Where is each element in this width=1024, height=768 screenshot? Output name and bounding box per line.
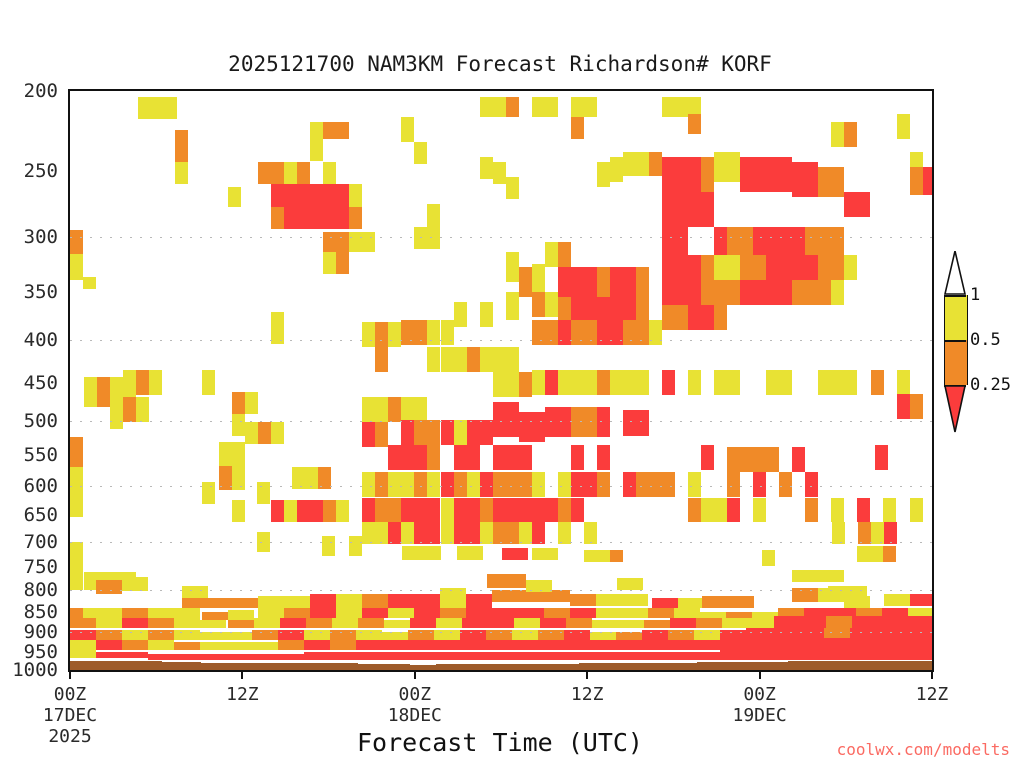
heatmap-cell [636,472,662,497]
chart-root: 2025121700 NAM3KM Forecast Richardson# K… [0,0,1024,768]
heatmap-cell [701,445,714,470]
heatmap-cell [702,596,728,608]
heatmap-cell [362,397,375,422]
heatmap-cell [258,596,284,608]
heatmap-cell [297,162,310,184]
heatmap-cell [408,640,434,650]
heatmap-cell [668,640,694,650]
heatmap-cell [857,498,870,522]
y-tick-mark [68,487,70,489]
heatmap-cell [662,472,675,497]
heatmap-cell [434,652,460,660]
heatmap-cell [97,377,110,407]
heatmap-cell [304,640,330,650]
terrain-segment [697,662,711,670]
heatmap-cell [323,122,349,139]
heatmap-cell [454,522,480,544]
heatmap-cell [384,620,410,628]
heatmap-cell [362,498,375,522]
heatmap-cell [623,472,636,497]
heatmap-cell [336,500,349,522]
heatmap-cell [110,397,123,422]
heatmap-cell [362,522,388,544]
heatmap-cell [149,370,162,395]
heatmap-cell [642,652,668,660]
heatmap-cell [644,620,670,628]
heatmap-cell [388,522,401,544]
y-tick-mark [68,384,70,386]
heatmap-cell [401,117,414,142]
heatmap-cell [70,572,83,590]
heatmap-cell [832,522,845,544]
heatmap-cell [674,608,700,618]
heatmap-cell [336,608,362,618]
y-tick-mark [68,591,70,593]
terrain-segment [762,662,776,670]
heatmap-cell [748,618,774,628]
heatmap-cell [610,370,636,395]
heatmap-cell [902,650,934,660]
heatmap-cell [349,207,362,229]
heatmap-cell [284,608,310,618]
heatmap-cell [480,420,493,445]
heatmap-cell [597,267,610,297]
heatmap-cell [714,255,740,280]
terrain-segment [214,663,228,670]
heatmap-cell [800,616,826,628]
heatmap-plot-area [68,89,934,672]
heatmap-cell [232,500,245,522]
heatmap-cell [506,292,519,320]
heatmap-cell [388,608,414,618]
heatmap-cell [544,608,570,618]
heatmap-cell [558,320,571,345]
heatmap-cell [753,227,779,255]
heatmap-cell [740,255,766,280]
heatmap-cell [623,320,649,345]
heatmap-cell [388,445,401,470]
heatmap-cell [427,227,440,249]
heatmap-cell [356,652,382,660]
heatmap-cell [388,472,414,497]
heatmap-cell [70,650,96,658]
heatmap-cell [662,157,701,192]
heatmap-cell [460,640,486,650]
heatmap-cell [441,472,454,497]
heatmap-cell [844,192,870,217]
heatmap-cell [545,292,558,317]
heatmap-cell [762,550,775,566]
heatmap-cell [356,640,382,650]
heatmap-cell [571,445,584,470]
heatmap-cell [722,618,748,628]
terrain-segment [188,662,202,670]
heatmap-cell [414,142,427,164]
y-tick-mark [68,516,70,518]
heatmap-cell [884,522,897,544]
heatmap-cell [668,652,694,660]
heatmap-cell [596,594,622,606]
y-tick-label: 600 [24,475,58,497]
heatmap-cell [792,447,805,472]
heatmap-cell [70,467,83,492]
heatmap-cell [714,370,740,395]
heatmap-cell [883,546,896,562]
heatmap-cell [336,232,349,252]
heatmap-cell [616,652,642,660]
heatmap-cell [254,618,280,628]
heatmap-cell [636,267,649,297]
heatmap-cell [792,570,844,582]
heatmap-cell [414,472,427,497]
x-tick-time: 00Z [388,684,442,705]
heatmap-cell [454,472,467,497]
heatmap-cell [136,397,149,422]
heatmap-cell [844,255,857,280]
x-tick-mark [759,672,761,679]
heatmap-cell [597,320,623,345]
y-tick-mark [68,568,70,570]
heatmap-cell [858,522,871,544]
heatmap-cell [519,498,532,522]
colorbar-top-arrow [944,251,966,295]
heatmap-cell [323,162,336,184]
heatmap-cell [545,242,558,267]
heatmap-cell [148,654,174,660]
terrain-segment [240,663,254,670]
heatmap-cell [174,654,200,660]
heatmap-cell [138,97,177,119]
gridline [70,542,932,543]
y-tick-mark [68,238,70,240]
heatmap-cell [779,370,792,395]
heatmap-cell [480,472,493,497]
heatmap-cell [831,370,857,395]
colorbar-band-orange [944,340,968,385]
heatmap-cell [512,652,538,660]
y-tick-label: 250 [24,160,58,182]
heatmap-cell [831,498,844,522]
heatmap-cell [493,498,519,522]
heatmap-cell [571,472,597,497]
terrain-segment [148,661,162,670]
heatmap-cell [375,322,388,347]
heatmap-cell [440,608,466,618]
heatmap-cell [441,498,454,522]
heatmap-cell [878,616,904,628]
heatmap-cell [96,608,122,618]
heatmap-cell [488,618,514,628]
heatmap-cell [174,642,200,650]
heatmap-cell [688,370,701,395]
heatmap-cell [70,542,83,562]
heatmap-cell [122,652,148,658]
heatmap-cell [688,472,701,497]
terrain-segment [305,663,319,670]
heatmap-cell [480,97,506,117]
y-tick-mark [68,293,70,295]
heatmap-cell [454,445,480,470]
heatmap-cell [232,414,245,436]
terrain-segment [788,661,802,670]
heatmap-cell [766,280,792,305]
heatmap-cell [454,498,480,522]
heatmap-cell [532,97,558,117]
heatmap-cell [871,522,884,544]
heatmap-cell [492,608,518,618]
colorbar-tick-1 [944,295,966,297]
heatmap-cell [688,227,714,255]
x-tick-time: 00Z [733,684,787,705]
heatmap-cell [467,347,480,372]
heatmap-cell [70,437,83,467]
heatmap-cell [96,640,122,650]
heatmap-cell [410,618,436,628]
heatmap-cell [766,255,792,280]
y-tick-mark [68,633,70,635]
y-tick-mark [68,341,70,343]
heatmap-cell [506,472,532,497]
heatmap-cell [323,252,336,274]
heatmap-cell [271,184,349,207]
heatmap-cell [688,114,701,134]
heatmap-cell [571,370,597,395]
heatmap-cell [96,652,122,658]
x-tick-time: 00Z [43,684,97,705]
heatmap-cell [493,522,519,544]
heatmap-cell [514,618,540,628]
terrain-segment [135,661,149,670]
heatmap-cell [636,370,649,395]
heatmap-cell [518,608,544,618]
heatmap-cell [96,618,122,628]
x-tick-time: 12Z [226,684,259,705]
heatmap-cell [258,162,284,184]
heatmap-cell [202,370,215,395]
heatmap-cell [850,650,876,660]
heatmap-cell [519,412,545,442]
heatmap-cell [772,650,798,660]
heatmap-cell [462,618,488,628]
heatmap-cell [623,410,636,436]
heatmap-cell [740,157,766,192]
heatmap-cell [401,397,427,422]
heatmap-cell [566,618,592,628]
heatmap-cell [232,392,245,414]
terrain-segment [266,663,280,670]
heatmap-cell [844,122,857,147]
terrain-segment [801,661,815,670]
heatmap-cell [688,305,714,330]
heatmap-cell [558,522,571,544]
heatmap-cell [648,608,674,618]
heatmap-cell [662,255,701,280]
x-tick-label-group: 12Z [226,684,259,705]
heatmap-cell [271,422,284,444]
heatmap-cell [310,608,336,618]
heatmap-cell [480,157,493,179]
heatmap-cell [701,255,714,280]
heatmap-cell [831,227,844,255]
heatmap-cell [746,638,772,650]
heatmap-cell [876,650,902,660]
heatmap-cell [876,638,902,650]
heatmap-cell [388,594,414,608]
heatmap-cell [96,580,122,594]
terrain-segment [344,663,358,670]
terrain-segment [83,661,97,670]
x-tick-mark [241,672,243,679]
heatmap-cell [727,472,740,497]
heatmap-cell [401,320,414,345]
heatmap-cell [219,442,245,466]
y-tick-label: 200 [24,80,58,102]
heatmap-cell [636,410,649,436]
heatmap-cell [323,232,336,252]
terrain-segment [919,661,933,670]
heatmap-cell [532,370,545,395]
gridline [70,486,932,487]
heatmap-cell [252,654,278,660]
heatmap-cell [83,277,96,289]
heatmap-cell [284,162,297,184]
heatmap-cell [492,590,518,602]
heatmap-cell [414,227,427,249]
gridline [70,590,932,591]
heatmap-cell [123,370,136,395]
heatmap-cell [228,610,254,620]
heatmap-cell [70,618,96,628]
heatmap-cell [532,548,558,560]
heatmap-cell [466,594,492,608]
heatmap-cell [766,370,779,395]
heatmap-cell [740,280,766,305]
heatmap-cell [226,642,252,650]
heatmap-cell [388,322,401,347]
y-tick-label: 300 [24,226,58,248]
colorbar-label-05: 0.5 [970,330,1001,350]
heatmap-cell [923,167,934,195]
heatmap-cell [441,420,454,445]
heatmap-cell [487,574,526,588]
heatmap-cell [278,654,304,660]
heatmap-cell [694,640,720,650]
y-tick-label: 800 [24,579,58,601]
heatmap-cell [401,522,414,544]
heatmap-cell [441,320,454,345]
heatmap-cell [466,608,492,618]
heatmap-cell [200,632,226,640]
terrain-segment [710,662,724,670]
heatmap-cell [440,588,466,610]
terrain-segment [749,662,763,670]
heatmap-cell [271,500,284,522]
heatmap-cell [362,472,375,497]
heatmap-cell [70,230,83,254]
heatmap-cell [493,445,506,470]
heatmap-cell [753,447,779,472]
heatmap-cell [401,445,427,470]
heatmap-cell [571,407,597,437]
heatmap-cell [136,370,149,395]
terrain-segment [814,661,828,670]
colorbar-band-yellow [944,295,968,340]
colorbar-bottom-arrow [944,385,966,433]
x-tick-mark [69,672,71,679]
heatmap-cell [798,638,824,650]
y-tick-label: 750 [24,556,58,578]
heatmap-cell [571,117,584,139]
terrain-segment [828,661,842,670]
heatmap-cell [362,594,388,608]
heatmap-cell [714,305,727,330]
heatmap-cell [584,522,597,544]
heatmap-cell [805,498,818,522]
heatmap-cell [818,280,831,305]
heatmap-cell [323,500,336,522]
heatmap-cell [228,620,254,628]
heatmap-cell [175,130,188,162]
terrain-segment [292,663,306,670]
heatmap-cell [571,267,597,297]
heatmap-cell [805,227,831,255]
heatmap-cell [506,177,519,199]
heatmap-cell [649,152,662,176]
heatmap-cell [202,598,228,608]
heatmap-cell [388,397,401,422]
heatmap-cell [616,640,642,650]
heatmap-cell [590,652,616,660]
y-tick-label: 650 [24,504,58,526]
heatmap-cell [427,472,440,497]
heatmap-cell [766,157,792,192]
heatmap-cell [375,498,401,522]
x-tick-mark [931,672,933,679]
y-tick-label: 500 [24,410,58,432]
heatmap-cell [564,652,590,660]
heatmap-cell [414,420,440,445]
heatmap-cell [701,157,714,192]
heatmap-cell [701,280,714,305]
terrain-segment [854,661,868,670]
y-tick-label: 450 [24,372,58,394]
heatmap-cell [910,394,923,419]
heatmap-cell [306,618,332,628]
heatmap-cell [280,618,306,628]
heatmap-cell [616,632,642,640]
heatmap-cell [897,394,910,419]
heatmap-cell [228,187,241,207]
heatmap-cell [662,280,701,305]
terrain-segment [880,661,894,670]
heatmap-cell [70,492,83,517]
heatmap-cell [506,445,532,470]
heatmap-cell [753,498,766,522]
heatmap-cell [148,640,174,650]
heatmap-cell [434,640,460,650]
heatmap-cell [382,652,408,660]
heatmap-cell [284,207,349,229]
heatmap-cell [408,652,434,660]
heatmap-cell [362,322,375,347]
terrain-segment [70,661,84,670]
colorbar: 1 0.5 0.25 [944,295,966,430]
heatmap-cell [502,548,528,560]
heatmap-cell [592,620,618,628]
heatmap-cell [486,640,512,650]
heatmap-cell [538,640,564,650]
heatmap-cell [506,252,519,282]
